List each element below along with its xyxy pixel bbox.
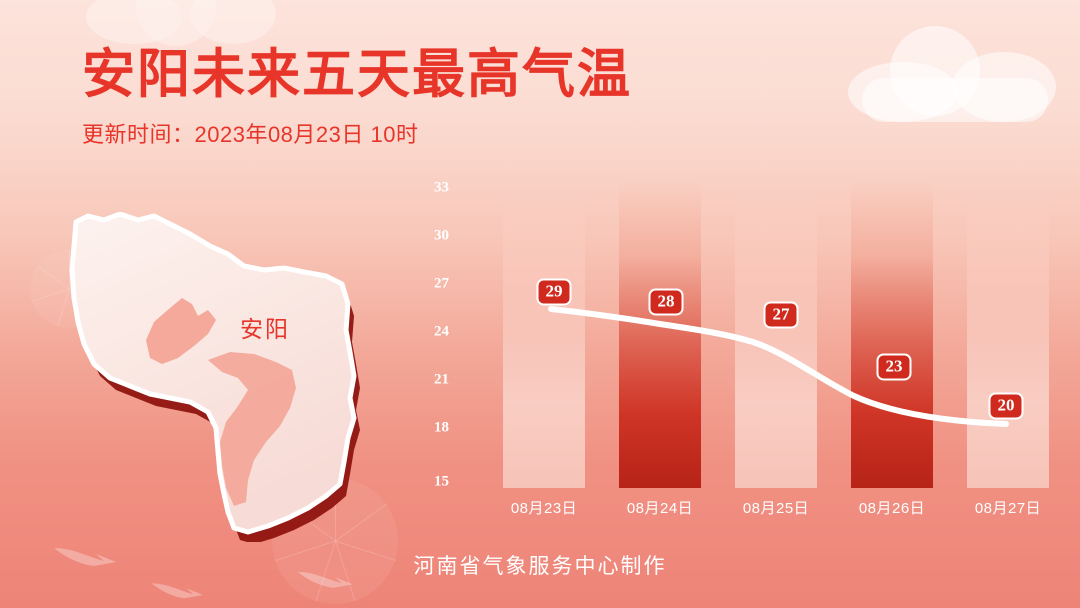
y-axis-tick: 24 — [434, 324, 449, 341]
cloud-icon — [848, 26, 1058, 122]
x-axis-label: 08月23日 — [484, 497, 604, 518]
y-axis-tick: 33 — [434, 180, 449, 197]
x-axis-label: 08月25日 — [716, 497, 836, 518]
value-badge: 29 — [537, 278, 572, 305]
y-axis-tick: 15 — [434, 474, 449, 491]
temperature-line — [458, 182, 1028, 488]
header: 安阳未来五天最高气温 更新时间：2023年08月23日 10时 — [82, 46, 632, 149]
page-title: 安阳未来五天最高气温 — [82, 46, 632, 103]
value-badge: 27 — [764, 301, 799, 328]
y-axis-tick: 27 — [434, 276, 449, 293]
temperature-chart: 33 30 27 24 21 18 15 29 28 27 23 20 08月2… — [412, 182, 1032, 512]
x-axis-label: 08月27日 — [948, 497, 1068, 518]
x-axis-label: 08月24日 — [600, 497, 720, 518]
x-axis-label: 08月26日 — [832, 497, 952, 518]
value-badge: 28 — [649, 288, 684, 315]
value-badge: 20 — [989, 392, 1024, 419]
update-time-text: 更新时间：2023年08月23日 10时 — [82, 117, 632, 149]
map-shape — [58, 212, 398, 542]
y-axis-tick: 18 — [434, 420, 449, 437]
y-axis-tick: 30 — [434, 228, 449, 245]
y-axis-tick: 21 — [434, 372, 449, 389]
value-badge: 23 — [877, 353, 912, 380]
chart-plot-area: 33 30 27 24 21 18 15 29 28 27 23 20 08月2… — [458, 182, 1028, 488]
bird-icon — [150, 578, 208, 602]
map-region-label: 安阳 — [240, 310, 290, 344]
footer-credit: 河南省气象服务中心制作 — [0, 550, 1080, 580]
anyang-map: 安阳 — [58, 212, 398, 542]
cloud-icon — [86, 0, 286, 46]
